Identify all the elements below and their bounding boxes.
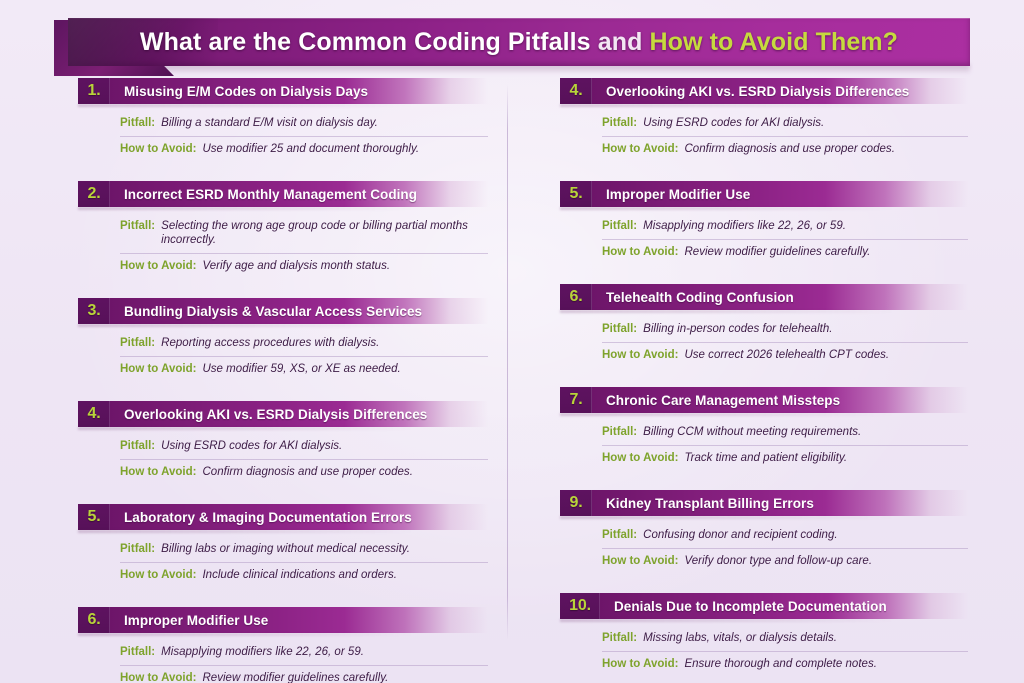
how-to-avoid-text: Use correct 2026 telehealth CPT codes. bbox=[684, 348, 968, 362]
page-title-conjunction: and bbox=[591, 28, 650, 56]
how-to-avoid-text: Include clinical indications and orders. bbox=[202, 568, 488, 582]
pitfall-item-title: Denials Due to Incomplete Documentation bbox=[600, 593, 968, 619]
how-to-avoid-row: How to Avoid:Use correct 2026 telehealth… bbox=[602, 345, 968, 367]
pitfall-item: 4.Overlooking AKI vs. ESRD Dialysis Diff… bbox=[78, 401, 488, 484]
pitfall-row: Pitfall:Billing CCM without meeting requ… bbox=[602, 422, 968, 446]
how-to-avoid-label: How to Avoid: bbox=[602, 348, 678, 362]
pitfall-row: Pitfall:Misapplying modifiers like 22, 2… bbox=[602, 216, 968, 240]
how-to-avoid-text: Confirm diagnosis and use proper codes. bbox=[202, 465, 488, 479]
pitfall-text: Billing CCM without meeting requirements… bbox=[643, 425, 968, 439]
how-to-avoid-text: Verify age and dialysis month status. bbox=[202, 259, 488, 273]
how-to-avoid-text: Use modifier 25 and document thoroughly. bbox=[202, 142, 488, 156]
pitfall-label: Pitfall: bbox=[602, 425, 637, 439]
pitfall-item-detail: Pitfall:Selecting the wrong age group co… bbox=[78, 207, 488, 278]
pitfall-item: 1.Misusing E/M Codes on Dialysis DaysPit… bbox=[78, 78, 488, 161]
how-to-avoid-label: How to Avoid: bbox=[602, 657, 678, 671]
how-to-avoid-label: How to Avoid: bbox=[602, 451, 678, 465]
pitfall-item: 9.Kidney Transplant Billing ErrorsPitfal… bbox=[560, 490, 968, 573]
pitfall-text: Misapplying modifiers like 22, 26, or 59… bbox=[643, 219, 968, 233]
ribbon-banner: What are the Common Coding Pitfalls and … bbox=[68, 18, 970, 66]
pitfall-item-header[interactable]: 6.Improper Modifier Use bbox=[78, 607, 488, 633]
pitfall-text: Billing a standard E/M visit on dialysis… bbox=[161, 116, 488, 130]
pitfall-item-header[interactable]: 5.Improper Modifier Use bbox=[560, 181, 968, 207]
pitfall-label: Pitfall: bbox=[120, 219, 155, 233]
how-to-avoid-text: Review modifier guidelines carefully. bbox=[684, 245, 968, 259]
how-to-avoid-row: How to Avoid:Review modifier guidelines … bbox=[120, 668, 488, 683]
pitfall-item-detail: Pitfall:Using ESRD codes for AKI dialysi… bbox=[560, 104, 968, 161]
pitfall-item-header[interactable]: 6.Telehealth Coding Confusion bbox=[560, 284, 968, 310]
pitfall-item-title: Laboratory & Imaging Documentation Error… bbox=[110, 504, 488, 530]
pitfall-item-title: Overlooking AKI vs. ESRD Dialysis Differ… bbox=[110, 401, 488, 427]
pitfall-item: 6.Telehealth Coding ConfusionPitfall:Bil… bbox=[560, 284, 968, 367]
pitfall-text: Using ESRD codes for AKI dialysis. bbox=[161, 439, 488, 453]
pitfall-item: 10.Denials Due to Incomplete Documentati… bbox=[560, 593, 968, 676]
pitfall-item-title: Improper Modifier Use bbox=[110, 607, 488, 633]
pitfall-label: Pitfall: bbox=[602, 322, 637, 336]
column-divider bbox=[507, 84, 508, 640]
pitfall-item-number: 4. bbox=[78, 401, 110, 427]
how-to-avoid-text: Confirm diagnosis and use proper codes. bbox=[684, 142, 968, 156]
pitfall-text: Misapplying modifiers like 22, 26, or 59… bbox=[161, 645, 488, 659]
pitfall-item: 5.Laboratory & Imaging Documentation Err… bbox=[78, 504, 488, 587]
pitfall-item-title: Chronic Care Management Missteps bbox=[592, 387, 968, 413]
pitfall-text: Confusing donor and recipient coding. bbox=[643, 528, 968, 542]
pitfall-item-number: 6. bbox=[560, 284, 592, 310]
how-to-avoid-label: How to Avoid: bbox=[120, 465, 196, 479]
pitfall-item-number: 4. bbox=[560, 78, 592, 104]
pitfall-row: Pitfall:Missing labs, vitals, or dialysi… bbox=[602, 628, 968, 652]
pitfall-item-number: 7. bbox=[560, 387, 592, 413]
header-ribbon: What are the Common Coding Pitfalls and … bbox=[54, 18, 970, 66]
how-to-avoid-label: How to Avoid: bbox=[120, 142, 196, 156]
pitfall-item: 5.Improper Modifier UsePitfall:Misapplyi… bbox=[560, 181, 968, 264]
pitfall-text: Billing labs or imaging without medical … bbox=[161, 542, 488, 556]
pitfall-text: Selecting the wrong age group code or bi… bbox=[161, 219, 488, 247]
pitfall-row: Pitfall:Billing in-person codes for tele… bbox=[602, 319, 968, 343]
pitfall-item-title: Misusing E/M Codes on Dialysis Days bbox=[110, 78, 488, 104]
pitfall-row: Pitfall:Reporting access procedures with… bbox=[120, 333, 488, 357]
pitfall-item-detail: Pitfall:Billing labs or imaging without … bbox=[78, 530, 488, 587]
pitfall-row: Pitfall:Confusing donor and recipient co… bbox=[602, 525, 968, 549]
how-to-avoid-label: How to Avoid: bbox=[602, 245, 678, 259]
pitfall-label: Pitfall: bbox=[602, 528, 637, 542]
pitfall-row: Pitfall:Selecting the wrong age group co… bbox=[120, 216, 488, 254]
how-to-avoid-text: Review modifier guidelines carefully. bbox=[202, 671, 488, 683]
pitfall-text: Missing labs, vitals, or dialysis detail… bbox=[643, 631, 968, 645]
pitfall-item-number: 10. bbox=[560, 593, 600, 619]
pitfall-label: Pitfall: bbox=[120, 645, 155, 659]
how-to-avoid-row: How to Avoid:Verify age and dialysis mon… bbox=[120, 256, 488, 278]
pitfall-item-number: 5. bbox=[560, 181, 592, 207]
pitfall-label: Pitfall: bbox=[120, 542, 155, 556]
pitfall-item-detail: Pitfall:Billing in-person codes for tele… bbox=[560, 310, 968, 367]
how-to-avoid-row: How to Avoid:Track time and patient elig… bbox=[602, 448, 968, 470]
how-to-avoid-row: How to Avoid:Use modifier 59, XS, or XE … bbox=[120, 359, 488, 381]
page-title-accent: How to Avoid Them? bbox=[650, 28, 899, 56]
pitfall-item: 2.Incorrect ESRD Monthly Management Codi… bbox=[78, 181, 488, 278]
how-to-avoid-row: How to Avoid:Confirm diagnosis and use p… bbox=[602, 139, 968, 161]
pitfall-label: Pitfall: bbox=[602, 116, 637, 130]
pitfall-row: Pitfall:Using ESRD codes for AKI dialysi… bbox=[120, 436, 488, 460]
pitfall-row: Pitfall:Billing labs or imaging without … bbox=[120, 539, 488, 563]
pitfall-item: 6.Improper Modifier UsePitfall:Misapplyi… bbox=[78, 607, 488, 683]
pitfall-item-detail: Pitfall:Missing labs, vitals, or dialysi… bbox=[560, 619, 968, 676]
how-to-avoid-text: Track time and patient eligibility. bbox=[684, 451, 968, 465]
how-to-avoid-text: Ensure thorough and complete notes. bbox=[684, 657, 968, 671]
how-to-avoid-text: Use modifier 59, XS, or XE as needed. bbox=[202, 362, 488, 376]
pitfall-item-header[interactable]: 7.Chronic Care Management Missteps bbox=[560, 387, 968, 413]
pitfall-item-detail: Pitfall:Billing CCM without meeting requ… bbox=[560, 413, 968, 470]
pitfall-item-detail: Pitfall:Misapplying modifiers like 22, 2… bbox=[78, 633, 488, 683]
pitfall-item-header[interactable]: 9.Kidney Transplant Billing Errors bbox=[560, 490, 968, 516]
how-to-avoid-label: How to Avoid: bbox=[120, 568, 196, 582]
pitfall-text: Reporting access procedures with dialysi… bbox=[161, 336, 488, 350]
how-to-avoid-text: Verify donor type and follow-up care. bbox=[684, 554, 968, 568]
pitfall-item-title: Improper Modifier Use bbox=[592, 181, 968, 207]
how-to-avoid-label: How to Avoid: bbox=[120, 671, 196, 683]
how-to-avoid-row: How to Avoid:Review modifier guidelines … bbox=[602, 242, 968, 264]
pitfall-item-title: Telehealth Coding Confusion bbox=[592, 284, 968, 310]
pitfall-item-header[interactable]: 2.Incorrect ESRD Monthly Management Codi… bbox=[78, 181, 488, 207]
pitfall-item-number: 9. bbox=[560, 490, 592, 516]
pitfall-item-header[interactable]: 5.Laboratory & Imaging Documentation Err… bbox=[78, 504, 488, 530]
pitfall-item-header[interactable]: 10.Denials Due to Incomplete Documentati… bbox=[560, 593, 968, 619]
left-column: 1.Misusing E/M Codes on Dialysis DaysPit… bbox=[0, 78, 508, 678]
pitfall-text: Billing in-person codes for telehealth. bbox=[643, 322, 968, 336]
pitfall-label: Pitfall: bbox=[120, 116, 155, 130]
pitfall-row: Pitfall:Misapplying modifiers like 22, 2… bbox=[120, 642, 488, 666]
pitfall-item-title: Bundling Dialysis & Vascular Access Serv… bbox=[110, 298, 488, 324]
pitfall-item-detail: Pitfall:Confusing donor and recipient co… bbox=[560, 516, 968, 573]
how-to-avoid-row: How to Avoid:Use modifier 25 and documen… bbox=[120, 139, 488, 161]
how-to-avoid-row: How to Avoid:Confirm diagnosis and use p… bbox=[120, 462, 488, 484]
how-to-avoid-label: How to Avoid: bbox=[120, 259, 196, 273]
pitfall-item-detail: Pitfall:Using ESRD codes for AKI dialysi… bbox=[78, 427, 488, 484]
pitfall-row: Pitfall:Billing a standard E/M visit on … bbox=[120, 113, 488, 137]
pitfall-item-title: Kidney Transplant Billing Errors bbox=[592, 490, 968, 516]
pitfall-columns: 1.Misusing E/M Codes on Dialysis DaysPit… bbox=[0, 78, 1024, 678]
pitfall-item-detail: Pitfall:Reporting access procedures with… bbox=[78, 324, 488, 381]
pitfall-item-header[interactable]: 1.Misusing E/M Codes on Dialysis Days bbox=[78, 78, 488, 104]
pitfall-item-number: 1. bbox=[78, 78, 110, 104]
pitfall-item-number: 3. bbox=[78, 298, 110, 324]
how-to-avoid-label: How to Avoid: bbox=[120, 362, 196, 376]
pitfall-label: Pitfall: bbox=[120, 336, 155, 350]
pitfall-item-number: 6. bbox=[78, 607, 110, 633]
pitfall-item-detail: Pitfall:Billing a standard E/M visit on … bbox=[78, 104, 488, 161]
pitfall-item-number: 5. bbox=[78, 504, 110, 530]
how-to-avoid-row: How to Avoid:Include clinical indication… bbox=[120, 565, 488, 587]
pitfall-label: Pitfall: bbox=[602, 219, 637, 233]
pitfall-item-title: Incorrect ESRD Monthly Management Coding bbox=[110, 181, 488, 207]
pitfall-label: Pitfall: bbox=[120, 439, 155, 453]
page-title-part-1: What are the Common Coding Pitfalls bbox=[140, 28, 591, 56]
pitfall-item: 7.Chronic Care Management MisstepsPitfal… bbox=[560, 387, 968, 470]
pitfall-item-header[interactable]: 4.Overlooking AKI vs. ESRD Dialysis Diff… bbox=[78, 401, 488, 427]
pitfall-item-title: Overlooking AKI vs. ESRD Dialysis Differ… bbox=[592, 78, 968, 104]
page-title: What are the Common Coding Pitfalls and … bbox=[140, 28, 898, 57]
pitfall-row: Pitfall:Using ESRD codes for AKI dialysi… bbox=[602, 113, 968, 137]
how-to-avoid-row: How to Avoid:Ensure thorough and complet… bbox=[602, 654, 968, 676]
pitfall-label: Pitfall: bbox=[602, 631, 637, 645]
how-to-avoid-label: How to Avoid: bbox=[602, 142, 678, 156]
right-column: 4.Overlooking AKI vs. ESRD Dialysis Diff… bbox=[508, 78, 1024, 678]
pitfall-item-header[interactable]: 4.Overlooking AKI vs. ESRD Dialysis Diff… bbox=[560, 78, 968, 104]
pitfall-item-header[interactable]: 3.Bundling Dialysis & Vascular Access Se… bbox=[78, 298, 488, 324]
pitfall-item: 3.Bundling Dialysis & Vascular Access Se… bbox=[78, 298, 488, 381]
how-to-avoid-row: How to Avoid:Verify donor type and follo… bbox=[602, 551, 968, 573]
pitfall-item-detail: Pitfall:Misapplying modifiers like 22, 2… bbox=[560, 207, 968, 264]
pitfall-item: 4.Overlooking AKI vs. ESRD Dialysis Diff… bbox=[560, 78, 968, 161]
pitfall-text: Using ESRD codes for AKI dialysis. bbox=[643, 116, 968, 130]
pitfall-item-number: 2. bbox=[78, 181, 110, 207]
how-to-avoid-label: How to Avoid: bbox=[602, 554, 678, 568]
